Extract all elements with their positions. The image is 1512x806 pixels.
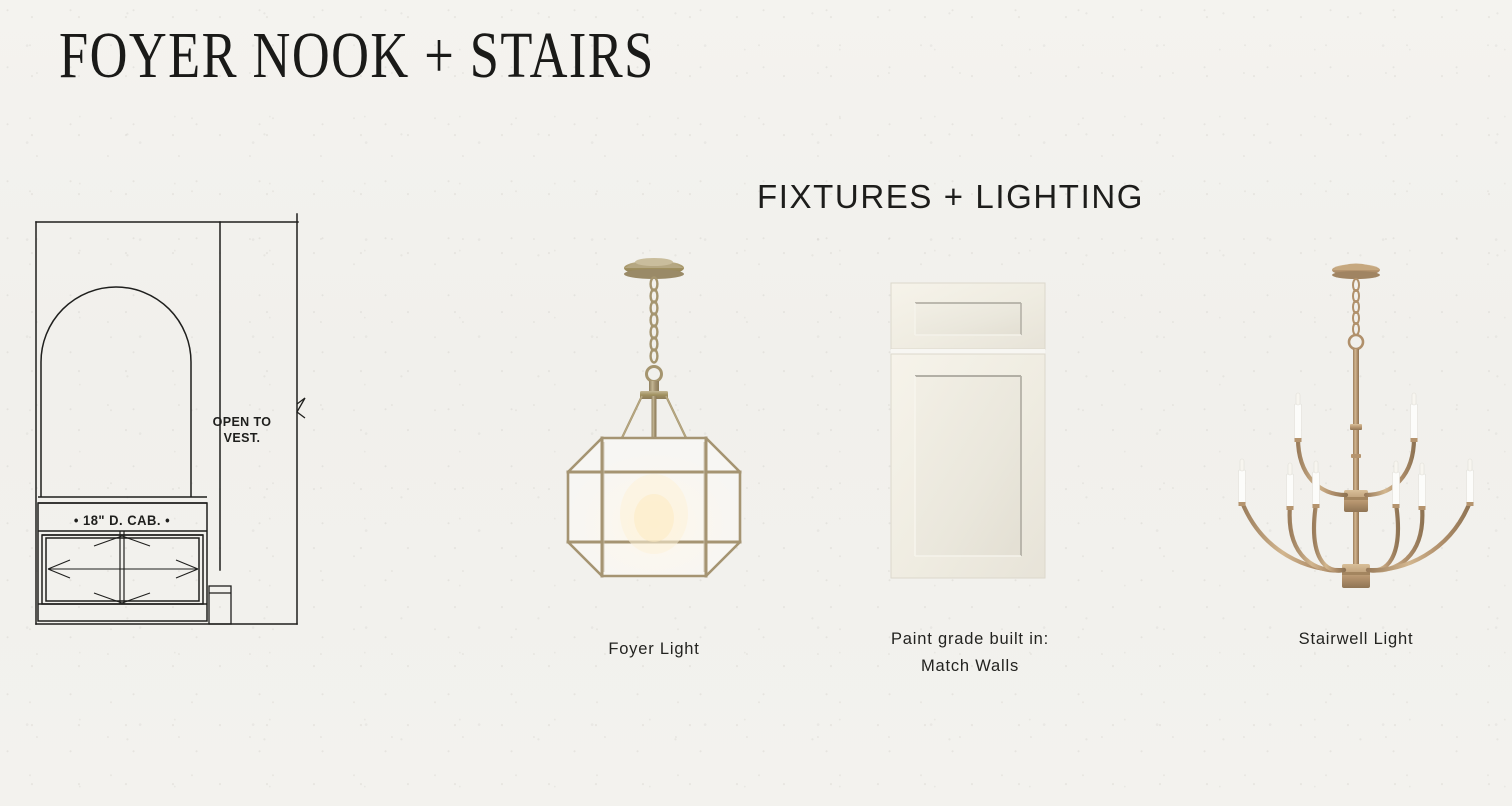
- lantern-shade: [568, 438, 740, 576]
- stairwell-light-image[interactable]: [1216, 252, 1496, 604]
- cabinet-dimension-label: • 18" D. CAB. •: [74, 513, 170, 529]
- cabinet-caption-line1: Paint grade built in:: [845, 626, 1095, 653]
- door-front: [891, 354, 1045, 578]
- chain: [1353, 279, 1359, 335]
- foyer-light-caption: Foyer Light: [554, 636, 754, 663]
- section-title-fixtures-lighting: FIXTURES + LIGHTING: [757, 178, 1144, 216]
- canopy: [624, 258, 684, 279]
- reveal-gap: [891, 349, 1045, 354]
- open-to-vest-label-line2: VEST.: [224, 431, 261, 445]
- cabinet-caption-line2: Match Walls: [845, 653, 1095, 680]
- upper-hub: [1344, 490, 1368, 512]
- lower-hub: [1342, 564, 1370, 588]
- chain-upper: [651, 278, 658, 363]
- canopy: [1332, 264, 1380, 280]
- cabinet-sample-caption: Paint grade built in: Match Walls: [845, 626, 1095, 679]
- cabinet-door-sample-image[interactable]: [888, 281, 1048, 580]
- center-column: [1353, 349, 1359, 579]
- stairwell-light-caption: Stairwell Light: [1216, 626, 1496, 653]
- page-title: FOYER NOOK + STAIRS: [59, 22, 655, 88]
- drawer-front: [891, 283, 1045, 349]
- open-to-vest-label-line1: OPEN TO: [213, 415, 272, 429]
- suspension-ring: [1349, 335, 1363, 349]
- foyer-light-image[interactable]: [554, 246, 754, 606]
- foyer-nook-elevation-drawing: • 18" D. CAB. • OPEN TO VEST.: [24, 212, 324, 642]
